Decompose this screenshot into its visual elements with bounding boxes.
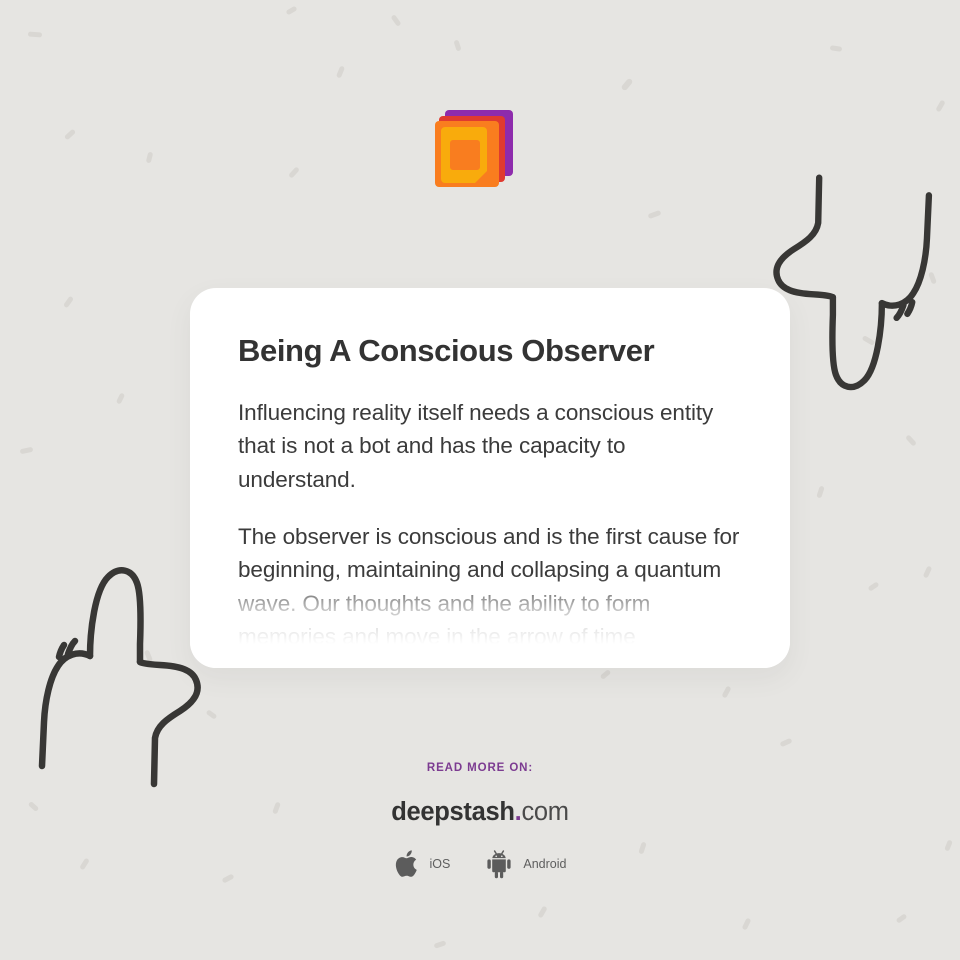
android-store-badge[interactable]: Android — [484, 848, 566, 880]
read-more-label: READ MORE ON: — [0, 762, 960, 774]
confetti-dash — [391, 14, 402, 27]
confetti-dash — [64, 129, 76, 141]
confetti-dash — [116, 392, 125, 404]
ios-store-badge[interactable]: iOS — [394, 848, 451, 880]
confetti-dash — [20, 447, 34, 455]
confetti-dash — [28, 32, 42, 38]
confetti-dash — [648, 210, 662, 219]
confetti-dash — [816, 486, 824, 499]
confetti-dash — [830, 45, 843, 52]
confetti-dash — [862, 335, 876, 346]
confetti-dash — [63, 296, 74, 309]
confetti-dash — [434, 940, 447, 948]
confetti-dash — [336, 66, 345, 79]
confetti-dash — [935, 100, 945, 113]
store-badges: iOS — [0, 848, 960, 880]
quote-card[interactable]: Being A Conscious Observer Influencing r… — [190, 288, 790, 668]
confetti-dash — [868, 581, 880, 591]
footer: READ MORE ON: deepstash.com iOS — [0, 762, 960, 880]
confetti-dash — [537, 906, 547, 919]
confetti-dash — [285, 6, 297, 16]
confetti-dash — [600, 669, 612, 680]
confetti-dash — [928, 272, 937, 285]
confetti-dash — [206, 709, 218, 720]
confetti-dash — [288, 166, 300, 178]
confetti-dash — [923, 566, 933, 579]
brand-wordmark[interactable]: deepstash.com — [0, 798, 960, 827]
confetti-dash — [896, 913, 908, 924]
confetti-dash — [453, 39, 461, 51]
card-paragraph-1: Influencing reality itself needs a consc… — [238, 396, 742, 496]
confetti-dash — [144, 650, 153, 663]
brand-name: deepstash — [391, 798, 514, 826]
card-paragraph-2: The observer is conscious and is the fir… — [238, 520, 742, 653]
android-icon — [484, 848, 514, 880]
confetti-dash — [146, 152, 154, 164]
page-title: Being A Conscious Observer — [238, 332, 742, 369]
confetti-dash — [742, 918, 752, 931]
confetti-dash — [905, 434, 917, 446]
confetti-dash — [721, 686, 731, 699]
apple-icon — [394, 848, 421, 880]
card-content: Being A Conscious Observer Influencing r… — [190, 288, 790, 653]
ios-label: iOS — [430, 857, 451, 871]
android-label: Android — [523, 857, 566, 871]
deepstash-logo — [425, 100, 525, 200]
brand-tld: com — [521, 798, 568, 826]
confetti-dash — [621, 78, 634, 92]
confetti-dash — [780, 738, 793, 747]
